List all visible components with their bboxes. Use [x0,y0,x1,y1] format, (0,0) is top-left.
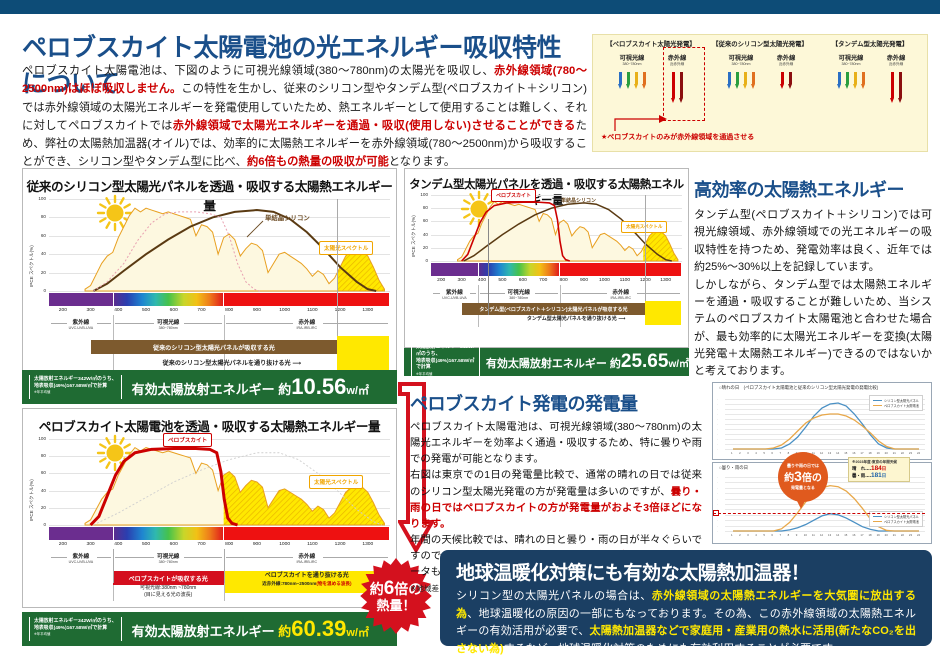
x-tick-label: 15 [844,533,847,537]
y-tick-label: · [717,491,718,495]
x-tick-label: 1200 [331,542,349,547]
diagram-panel-2: 【タンデム型太陽光発電】 可視光線380~780nm 赤外線近赤外線 [815,39,925,125]
label-infrared: 赤外線近赤外線 [770,53,802,67]
x-tick-label: 12 [820,451,823,455]
x-tick-label: 500 [493,278,511,283]
x-tick-label: 23 [909,533,912,537]
legend-entry: ペロブスカイト太陽電池 [873,403,919,408]
absorption-diagram: 【ペロブスカイト太陽光発電】 可視光線380~780nm 赤外線近赤外線 [592,34,928,152]
x-tick-label: 800 [555,278,573,283]
chart-legend: シリコン型太陽光パネルペロブスカイト太陽電池 [869,395,923,411]
y-tick-label: · [717,524,718,528]
energy-banner-silicon: 太陽放射エネルギー342W/㎡のうち、地表吸収(49%)167.58W/㎡で計算… [22,370,397,404]
x-tick-label: 700 [192,542,210,547]
x-tick-label: 5 [763,451,765,455]
global-warming-section: 地球温暖化対策にも有効な太陽熱加温器！ シリコン型の太陽光パネルの場合は、赤外線… [440,550,932,646]
spectrum-bar-infrared [224,293,388,306]
band-label-0: 紫外線UVC-UVB-UVA [432,288,476,300]
band-label-1: 可視光線380~780nm [146,552,190,564]
band-label-2: 赤外線IRA-IRB-IRC [285,552,329,564]
light-arrow-visible [634,72,639,89]
bubble-tail [796,499,806,509]
label-visible: 可視光線380~780nm [718,53,764,67]
spectrum-bar-uv [49,293,113,306]
energy-note-silicon: 太陽放射エネルギー342W/㎡のうち、地表吸収(49%)167.58W/㎡で計算… [29,375,122,399]
efficiency-title: 高効率の太陽熱エネルギー [694,176,932,202]
y-tick-label: · [717,397,718,401]
band-label-1: 可視光線380~780nm [146,318,190,330]
pass-guide [113,549,114,583]
y-tick-label: · [717,480,718,484]
light-arrow-visible [751,72,756,89]
x-tick-label: 24 [917,451,920,455]
spectrum-bar-infrared [224,527,388,540]
reference-marker [713,510,719,516]
x-tick-label: 1300 [657,278,675,283]
band-rule [323,557,388,558]
series-label-solar-spectrum: 太陽光スペクトル [621,221,667,233]
energy-value-perovskite: 有効太陽放射エネルギー 約60.39w/㎡ [132,616,369,642]
y-tick-label: · [717,422,718,426]
light-arrow-infrared [890,72,895,103]
x-tick-label: 800 [220,542,238,547]
energy-value-silicon: 有効太陽放射エネルギー 約10.56w/㎡ [132,374,369,400]
x-tick-label: 1000 [276,542,294,547]
x-tick-label: 20 [885,451,888,455]
y-tick-label: · [717,475,718,479]
x-tick-label: 1300 [359,542,377,547]
x-tick-label: 7 [780,451,782,455]
x-tick-label: 2 [739,533,741,537]
diagram-note: ★ペロブスカイトのみが赤外線領域を通過させる [601,132,754,142]
x-tick-label: 1000 [276,308,294,313]
x-tick-label: 700 [534,278,552,283]
pass-tag: 従来のシリコン型太陽光パネルを通り抜ける光 ⟶ [163,358,301,367]
efficiency-body: タンデム型(ペロブスカイト＋シリコン)では可視光線領域、赤外線領域での光エネルギ… [694,207,932,381]
x-tick-label: 300 [82,308,100,313]
pass-guide [337,199,338,336]
y-tick-label: · [717,417,718,421]
energy-banner-perovskite: 太陽放射エネルギー342W/㎡のうち、地表吸収(49%)167.58W/㎡で計算… [22,612,397,646]
y-tick-label: · [717,518,718,522]
x-tick-label: 1100 [616,278,634,283]
series-label-solar-spectrum: 太陽光スペクトル [319,241,373,255]
panel-title: 【タンデム型太陽光発電】 [815,39,925,48]
chart-card-tandem: タンデム型太陽光パネルを透過・吸収する太陽熱エネルギー量 02040608010… [404,168,689,348]
light-arrow-visible [861,72,866,89]
y-tick-label: · [717,402,718,406]
chart-card-perovskite: ペロブスカイト太陽電池を透過・吸収する太陽熱エネルギー量 02040608010… [22,408,397,608]
y-tick-label: · [717,407,718,411]
x-tick-label: 500 [137,308,155,313]
x-tick-label: 7 [780,533,782,537]
pass-through-yellow-box [645,301,681,325]
y-tick-label: · [717,427,718,431]
band-label-1: 可視光線380~780nm [497,288,541,300]
note-pointer-arrow [613,111,669,133]
x-tick-label: 17 [860,451,863,455]
label-visible: 可視光線380~780nm [609,53,655,67]
y-tick-label: · [717,529,718,533]
x-tick-label: 400 [109,542,127,547]
weather-stats-box: ※2023年度:東京の年間天候 晴 れ‥‥184日曇・雨‥‥181日 [848,457,910,482]
light-arrow-infrared [898,72,903,103]
label-visible: 可視光線380~780nm [828,53,874,67]
light-arrow-visible [626,72,631,89]
x-tick-label: 900 [575,278,593,283]
absorb-tag: 従来のシリコン型太陽光パネルが吸収する光 [91,340,338,354]
intro-paragraph: ペロブスカイト太陽電池は、下図のように可視光線領域(380～780nm)の太陽光… [22,62,587,172]
x-tick-label: 900 [248,542,266,547]
pass-guide [224,549,225,583]
efficiency-section: 高効率の太陽熱エネルギー タンデム型(ペロブスカイト＋シリコン)では可視光線領域… [694,176,932,381]
band-rule [323,323,388,324]
three-times-bubble: 曇りや雨の日では 約3倍の 発電量となる [778,452,828,502]
y-tick-label: · [717,497,718,501]
label-infrared: 赤外線近赤外線 [880,53,912,67]
x-tick-label: 1200 [331,308,349,313]
reference-line [713,513,925,514]
light-arrow-visible [853,72,858,89]
x-tick-label: 1300 [359,308,377,313]
x-tick-label: 16 [852,533,855,537]
weather-row: 晴 れ‥‥184日 [852,465,906,472]
x-tick-label: 6 [771,451,773,455]
spectrum-bar-uv [431,263,478,276]
leader-line [237,219,265,241]
absorb-tag: ペロブスカイトが吸収する光 [113,571,224,585]
line-chart-sunny-title: ○晴れの日 (ペロブスカイト太陽電池と従来のシリコン型太陽光発電の発電比較) [719,385,931,391]
band-rule [226,323,293,324]
legend-entry: ペロブスカイト太陽電池 [873,519,919,524]
energy-note-perovskite: 太陽放射エネルギー342W/㎡のうち、地表吸収(49%)167.58W/㎡で計算… [29,617,122,641]
x-tick-label: 13 [828,533,831,537]
x-tick-label: 10 [804,533,807,537]
x-tick-label: 23 [909,451,912,455]
x-tick-label: 17 [860,533,863,537]
x-tick-label: 1 [731,533,733,537]
global-warming-body: シリコン型の太陽光パネルの場合は、赤外線領域の太陽熱エネルギーを大気圏に放出する… [456,588,916,658]
band-label-0: 紫外線UVC-UVB-UVA [59,552,103,564]
x-tick-label: 900 [248,308,266,313]
x-tick-label: 18 [868,451,871,455]
x-tick-label: 2 [739,451,741,455]
pass-tag: タンデム型太陽光パネルを通り抜ける光 ⟶ [527,315,625,322]
y-tick-label: · [717,502,718,506]
burst-line2: 熱量！ [376,598,415,614]
x-tick-label: 300 [82,542,100,547]
series-label-silicon: 単結晶シリコン [557,195,600,206]
light-arrow-infrared [788,72,793,89]
x-tick-label: 200 [432,278,450,283]
infrared-highlight-box [663,47,705,121]
spectrum-bar-visible [479,263,559,276]
x-tick-label: 22 [901,533,904,537]
light-arrow-infrared [780,72,785,89]
x-tick-label: 22 [901,451,904,455]
x-tick-label: 400 [109,308,127,313]
spectrum-bar-visible [114,293,223,306]
x-tick-label: 16 [852,451,855,455]
series-label-silicon: 単結晶シリコン [261,211,314,224]
x-tick-label: 1 [731,451,733,455]
x-tick-label: 600 [165,542,183,547]
series-label-solar-spectrum: 太陽光スペクトル [309,475,363,489]
energy-value-tandem: 有効太陽放射エネルギー 約25.65w/㎡ [486,351,689,373]
generation-title: ペロブスカイト発電の発電量 [410,390,702,416]
chart-card-silicon: 従来のシリコン型太陽光パネルを透過・吸収する太陽熱エネルギー量 02040608… [22,168,397,390]
pass-through-yellow-box [337,336,388,372]
top-accent-spacer [0,14,940,17]
x-tick-label: 700 [192,308,210,313]
x-tick-label: 5 [763,533,765,537]
band-label-2: 赤外線IRA-IRB-IRC [285,318,329,330]
x-tick-label: 500 [137,542,155,547]
x-tick-label: 20 [885,533,888,537]
weather-row: 曇・雨‥‥181日 [852,472,906,479]
bubble-main-text: 約3倍の [784,469,822,485]
x-tick-label: 200 [54,308,72,313]
band-label-0: 紫外線UVC-UVB-UVA [59,318,103,330]
x-tick-label: 600 [165,308,183,313]
spectrum-bar-visible [114,527,223,540]
x-tick-label: 6 [771,533,773,537]
pass-guide [488,219,489,315]
x-tick-label: 1000 [595,278,613,283]
light-arrow-visible [642,72,647,89]
x-tick-label: 200 [54,542,72,547]
x-tick-label: 3 [747,451,749,455]
y-tick-label: · [717,486,718,490]
x-tick-label: 9 [796,533,798,537]
y-tick-label: · [717,412,718,416]
x-tick-label: 19 [877,533,880,537]
x-tick-label: 18 [868,533,871,537]
absorb-subtext: 可視光線:380nm ~780nm(目に見える光の波長) [113,585,224,599]
panel-title: 【従来のシリコン型太陽光発電】 [707,39,813,48]
x-tick-label: 1100 [303,542,321,547]
global-warming-title: 地球温暖化対策にも有効な太陽熱加温器！ [456,558,932,585]
spectrum-bar-uv [49,527,113,540]
light-arrow-visible [618,72,623,89]
x-tick-label: 14 [836,533,839,537]
bubble-sub-text: 発電量となる [791,485,815,491]
y-tick-label: · [717,442,718,446]
pass-guide [645,195,646,301]
x-tick-label: 8 [788,451,790,455]
light-arrow-visible [845,72,850,89]
x-tick-label: 1100 [303,308,321,313]
x-tick-label: 11 [812,533,815,537]
x-tick-label: 3 [747,533,749,537]
x-tick-label: 21 [893,533,896,537]
spectrum-bar-infrared [560,263,681,276]
x-tick-label: 14 [836,451,839,455]
x-tick-label: 24 [917,533,920,537]
y-tick-label: · [717,447,718,451]
diagram-panel-1: 【従来のシリコン型太陽光発電】 可視光線380~780nm 赤外線近赤外線 [707,39,813,125]
y-tick-label: · [717,437,718,441]
band-label-2: 赤外線IRA-IRB-IRC [599,288,643,300]
x-tick-label: 19 [877,451,880,455]
x-tick-label: 4 [755,451,757,455]
light-arrow-visible [727,72,732,89]
absorb-tag: タンデム型(ペロブスカイト＋シリコン)太陽光パネルが吸収する光 [462,303,646,315]
light-arrow-visible [743,72,748,89]
x-tick-label: 12 [820,533,823,537]
x-tick-label: 15 [844,451,847,455]
band-rule [637,293,680,294]
x-tick-label: 21 [893,451,896,455]
x-tick-label: 300 [453,278,471,283]
series-label-perovskite: ペロブスカイト [491,189,536,202]
x-tick-label: 13 [828,451,831,455]
light-arrow-visible [837,72,842,89]
energy-banner-tandem: 太陽放射エネルギー342W/㎡のうち、地表吸収(49%)167.58W/㎡で計算… [404,348,689,376]
x-tick-label: 800 [220,308,238,313]
top-accent-bar [0,0,940,14]
series-label-perovskite: ペロブスカイト [163,433,212,447]
band-rule [226,557,293,558]
x-tick-label: 8 [788,533,790,537]
x-tick-label: 600 [514,278,532,283]
y-tick-label: · [717,432,718,436]
light-arrow-visible [735,72,740,89]
line-chart-sunny: ○晴れの日 (ペロブスカイト太陽電池と従来のシリコン型太陽光発電の発電比較) 1… [712,382,932,460]
x-tick-label: 4 [755,533,757,537]
